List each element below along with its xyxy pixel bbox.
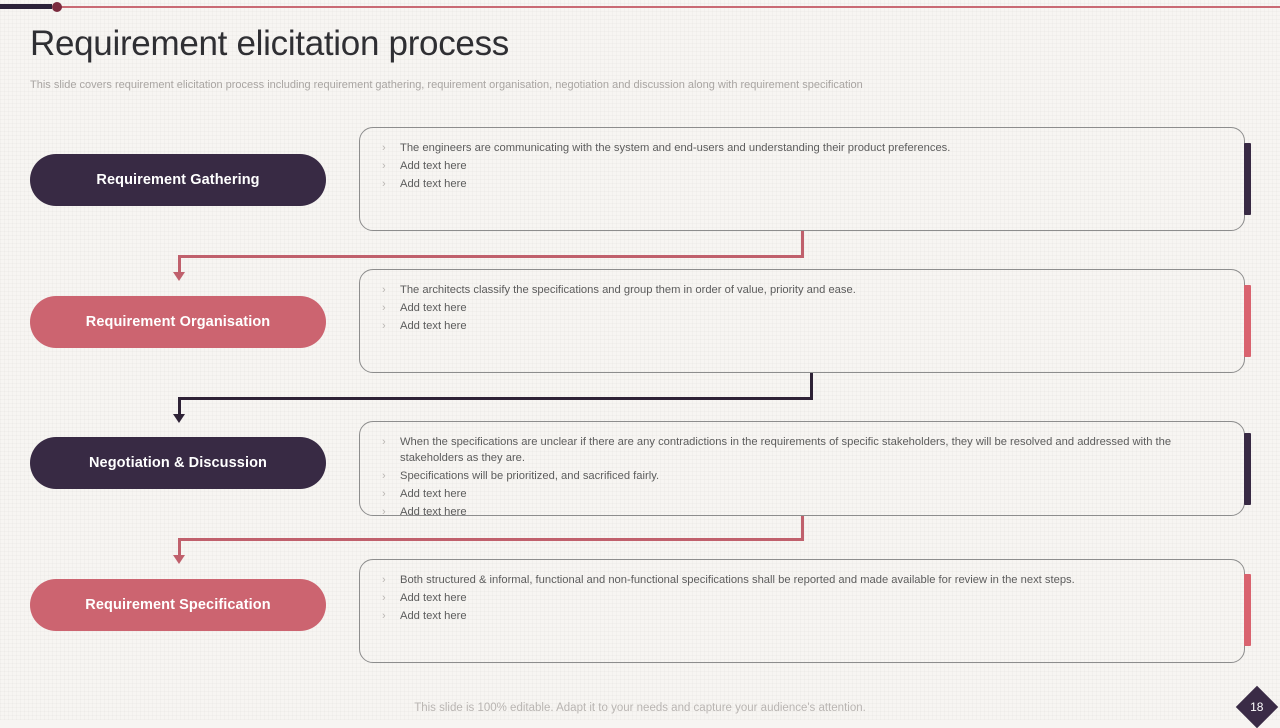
step-accent-bar bbox=[1244, 143, 1251, 215]
connector-segment-vertical bbox=[801, 231, 804, 258]
chevron-right-icon: › bbox=[378, 434, 400, 450]
list-item: › The architects classify the specificat… bbox=[378, 282, 1216, 298]
connector-segment-vertical bbox=[810, 373, 813, 400]
chevron-right-icon: › bbox=[378, 572, 400, 588]
list-item: › When the specifications are unclear if… bbox=[378, 434, 1216, 466]
page-number-badge: 18 bbox=[1236, 686, 1278, 728]
list-item-text: Specifications will be prioritized, and … bbox=[400, 468, 1216, 484]
list-item: › The engineers are communicating with t… bbox=[378, 140, 1216, 156]
chevron-right-icon: › bbox=[378, 300, 400, 316]
connector-segment-horizontal bbox=[178, 538, 804, 541]
step-accent-bar bbox=[1244, 574, 1251, 646]
list-item: › Add text here bbox=[378, 504, 1216, 520]
top-rule-thin-line bbox=[57, 6, 1280, 8]
step-pill-requirement-organisation[interactable]: Requirement Organisation bbox=[30, 296, 326, 348]
list-item: › Add text here bbox=[378, 590, 1216, 606]
chevron-right-icon: › bbox=[378, 590, 400, 606]
top-rule-dark-segment bbox=[0, 4, 52, 9]
list-item-text: The architects classify the specificatio… bbox=[400, 282, 1216, 298]
chevron-right-icon: › bbox=[378, 504, 400, 520]
chevron-right-icon: › bbox=[378, 158, 400, 174]
step-pill-label: Negotiation & Discussion bbox=[89, 455, 267, 471]
list-item-text: When the specifications are unclear if t… bbox=[400, 434, 1216, 466]
chevron-right-icon: › bbox=[378, 140, 400, 156]
bullet-list: › The engineers are communicating with t… bbox=[360, 128, 1244, 206]
connector-segment-horizontal bbox=[178, 397, 813, 400]
step-card-requirement-organisation: › The architects classify the specificat… bbox=[359, 269, 1245, 373]
top-rule-dot-icon bbox=[52, 2, 62, 12]
list-item: › Add text here bbox=[378, 608, 1216, 624]
chevron-right-icon: › bbox=[378, 282, 400, 298]
list-item-text: Add text here bbox=[400, 158, 1216, 174]
connector-arrowhead-icon bbox=[173, 272, 185, 281]
bullet-list: › Both structured & informal, functional… bbox=[360, 560, 1244, 638]
list-item: › Add text here bbox=[378, 486, 1216, 502]
page-subtitle: This slide covers requirement elicitatio… bbox=[30, 79, 863, 91]
list-item: › Add text here bbox=[378, 300, 1216, 316]
list-item: › Both structured & informal, functional… bbox=[378, 572, 1216, 588]
list-item-text: Add text here bbox=[400, 318, 1216, 334]
chevron-right-icon: › bbox=[378, 318, 400, 334]
step-pill-label: Requirement Specification bbox=[85, 597, 270, 613]
step-card-requirement-specification: › Both structured & informal, functional… bbox=[359, 559, 1245, 663]
step-accent-bar bbox=[1244, 433, 1251, 505]
list-item-text: The engineers are communicating with the… bbox=[400, 140, 1216, 156]
chevron-right-icon: › bbox=[378, 176, 400, 192]
step-pill-label: Requirement Organisation bbox=[86, 314, 271, 330]
chevron-right-icon: › bbox=[378, 608, 400, 624]
step-pill-requirement-gathering[interactable]: Requirement Gathering bbox=[30, 154, 326, 206]
step-pill-negotiation-discussion[interactable]: Negotiation & Discussion bbox=[30, 437, 326, 489]
step-card-negotiation-discussion: › When the specifications are unclear if… bbox=[359, 421, 1245, 516]
list-item: › Specifications will be prioritized, an… bbox=[378, 468, 1216, 484]
connector-segment-vertical bbox=[801, 516, 804, 540]
step-pill-label: Requirement Gathering bbox=[96, 172, 259, 188]
list-item-text: Add text here bbox=[400, 300, 1216, 316]
list-item-text: Add text here bbox=[400, 590, 1216, 606]
footer-note: This slide is 100% editable. Adapt it to… bbox=[0, 702, 1280, 714]
connector-arrowhead-icon bbox=[173, 555, 185, 564]
chevron-right-icon: › bbox=[378, 468, 400, 484]
list-item-text: Both structured & informal, functional a… bbox=[400, 572, 1216, 588]
page-title: Requirement elicitation process bbox=[30, 24, 509, 64]
list-item-text: Add text here bbox=[400, 486, 1216, 502]
step-pill-requirement-specification[interactable]: Requirement Specification bbox=[30, 579, 326, 631]
page-number-label: 18 bbox=[1250, 700, 1263, 714]
chevron-right-icon: › bbox=[378, 486, 400, 502]
list-item: › Add text here bbox=[378, 158, 1216, 174]
step-card-requirement-gathering: › The engineers are communicating with t… bbox=[359, 127, 1245, 231]
bullet-list: › The architects classify the specificat… bbox=[360, 270, 1244, 348]
step-accent-bar bbox=[1244, 285, 1251, 357]
list-item-text: Add text here bbox=[400, 608, 1216, 624]
list-item: › Add text here bbox=[378, 318, 1216, 334]
list-item: › Add text here bbox=[378, 176, 1216, 192]
list-item-text: Add text here bbox=[400, 176, 1216, 192]
list-item-text: Add text here bbox=[400, 504, 1216, 520]
connector-segment-horizontal bbox=[178, 255, 804, 258]
slide-canvas: Requirement elicitation process This sli… bbox=[0, 0, 1280, 720]
connector-arrowhead-icon bbox=[173, 414, 185, 423]
